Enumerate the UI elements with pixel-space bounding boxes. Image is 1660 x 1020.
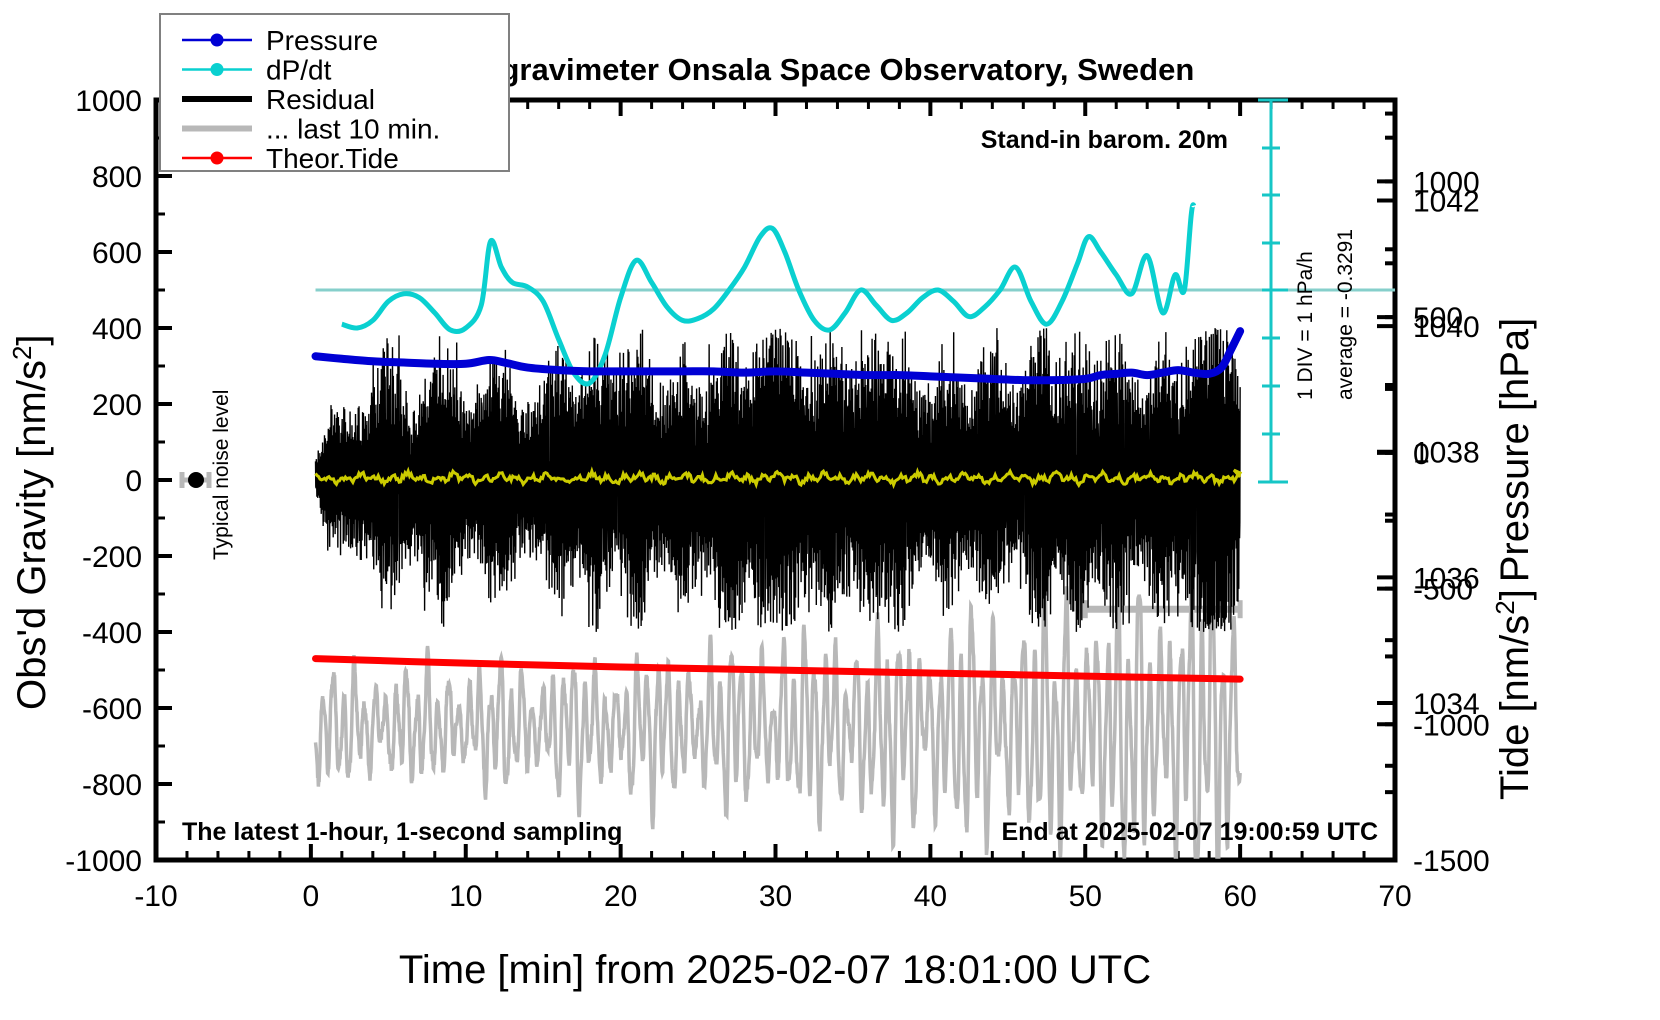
legend-marker-dot (211, 152, 224, 165)
typical-noise-level-label: Typical noise level (210, 390, 233, 560)
y-tick-label: -1000 (65, 845, 142, 878)
tide-tick-label: -1500 (1413, 845, 1490, 878)
y-tick-label: -200 (82, 541, 142, 574)
dpdt-average-label: average = -0.3291 (1334, 229, 1357, 400)
y-tick-label: -400 (82, 617, 142, 650)
svg-text:Pressure [hPa]: Pressure [hPa] (1493, 318, 1537, 583)
legend-marker-dot (211, 63, 224, 76)
y-axis-tide-title: Tide [nm/s2] (1490, 589, 1537, 800)
x-tick-label: 10 (449, 880, 482, 913)
x-tick-label: 50 (1069, 880, 1102, 913)
sampling-note-label: The latest 1-hour, 1-second sampling (182, 818, 622, 846)
y-tick-label: 800 (92, 161, 142, 194)
svg-text:Obs'd Gravity [nm/s2]: Obs'd Gravity [nm/s2] (7, 334, 54, 710)
end-time-label: End at 2025-02-07 19:00:59 UTC (1001, 818, 1378, 846)
standin-barom-label: Stand-in barom. 20m (981, 126, 1228, 154)
legend-item-label: ... last 10 min. (266, 114, 440, 145)
y-tick-label: 1000 (75, 85, 142, 118)
x-tick-label: 40 (914, 880, 947, 913)
tide-tick-label: 0 (1413, 438, 1430, 471)
legend: PressuredP/dtResidual... last 10 min.The… (160, 14, 509, 174)
x-tick-label: 20 (604, 880, 637, 913)
x-tick-label: 70 (1378, 880, 1411, 913)
y-tick-label: 600 (92, 237, 142, 270)
y-tick-label: -800 (82, 769, 142, 802)
gravimeter-chart: -10010203040506070 -1000-800-600-400-200… (0, 0, 1660, 1020)
tide-tick-label: 1000 (1413, 166, 1480, 199)
div-scale-label: 1 DIV = 1 hPa/h (1294, 251, 1317, 400)
tide-tick-label: 500 (1413, 302, 1463, 335)
tide-tick-label: -500 (1413, 574, 1473, 607)
y-tick-label: 200 (92, 389, 142, 422)
legend-item-label: Pressure (266, 25, 378, 56)
tide-tick-label: -1000 (1413, 709, 1490, 742)
legend-item-label: dP/dt (266, 55, 332, 86)
x-tick-label: 30 (759, 880, 792, 913)
y-tick-label: 0 (125, 465, 142, 498)
y-tick-label: 400 (92, 313, 142, 346)
y-tick-label: -600 (82, 693, 142, 726)
y-axis-pressure-title: Pressure [hPa] (1493, 318, 1537, 583)
x-tick-label: -10 (134, 880, 177, 913)
legend-marker-dot (211, 34, 224, 47)
legend-item-label: Residual (266, 84, 375, 115)
legend-item-label: Theor.Tide (266, 143, 399, 174)
svg-text:Tide [nm/s2]: Tide [nm/s2] (1490, 589, 1537, 800)
x-axis-title: Time [min] from 2025-02-07 18:01:00 UTC (399, 948, 1151, 992)
x-tick-label: 60 (1223, 880, 1256, 913)
chart-root: -10010203040506070 -1000-800-600-400-200… (0, 0, 1660, 1020)
y-axis-left-title: Obs'd Gravity [nm/s2] (7, 334, 54, 710)
x-tick-label: 0 (303, 880, 320, 913)
